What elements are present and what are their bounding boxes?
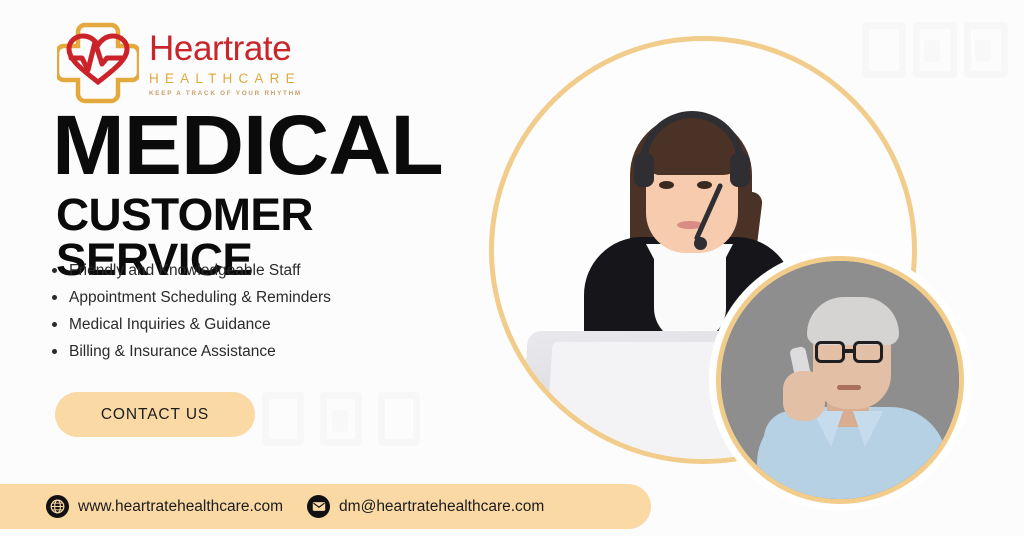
feature-list: Friendly and Knowledgeable Staff Appoint… — [48, 263, 331, 371]
senior-photo-circle — [716, 256, 964, 504]
website-url: www.heartratehealthcare.com — [78, 499, 283, 515]
email-address: dm@heartratehealthcare.com — [339, 499, 544, 515]
brand-subtitle: HEALTHCARE — [149, 72, 302, 86]
brand-name: Heartrate — [149, 31, 302, 66]
globe-icon — [46, 495, 69, 518]
envelope-icon — [307, 495, 330, 518]
list-item: Friendly and Knowledgeable Staff — [48, 263, 331, 279]
contact-footer-bar: www.heartratehealthcare.com dm@heartrate… — [0, 484, 651, 529]
email-contact[interactable]: dm@heartratehealthcare.com — [307, 495, 544, 518]
list-item: Appointment Scheduling & Reminders — [48, 290, 331, 306]
brand-tagline: KEEP A TRACK OF YOUR RHYTHM — [149, 91, 302, 97]
elderly-man-on-phone-image — [721, 261, 959, 499]
contact-us-button[interactable]: CONTACT US — [55, 392, 255, 437]
list-item: Medical Inquiries & Guidance — [48, 317, 331, 333]
website-contact[interactable]: www.heartratehealthcare.com — [46, 495, 283, 518]
content-column: Heartrate HEALTHCARE KEEP A TRACK OF YOU… — [0, 0, 500, 536]
list-item: Billing & Insurance Assistance — [48, 344, 331, 360]
headline-primary: MEDICAL — [52, 103, 443, 187]
brand-logo[interactable]: Heartrate HEALTHCARE KEEP A TRACK OF YOU… — [57, 20, 302, 104]
heart-cross-ecg-icon — [57, 20, 139, 104]
